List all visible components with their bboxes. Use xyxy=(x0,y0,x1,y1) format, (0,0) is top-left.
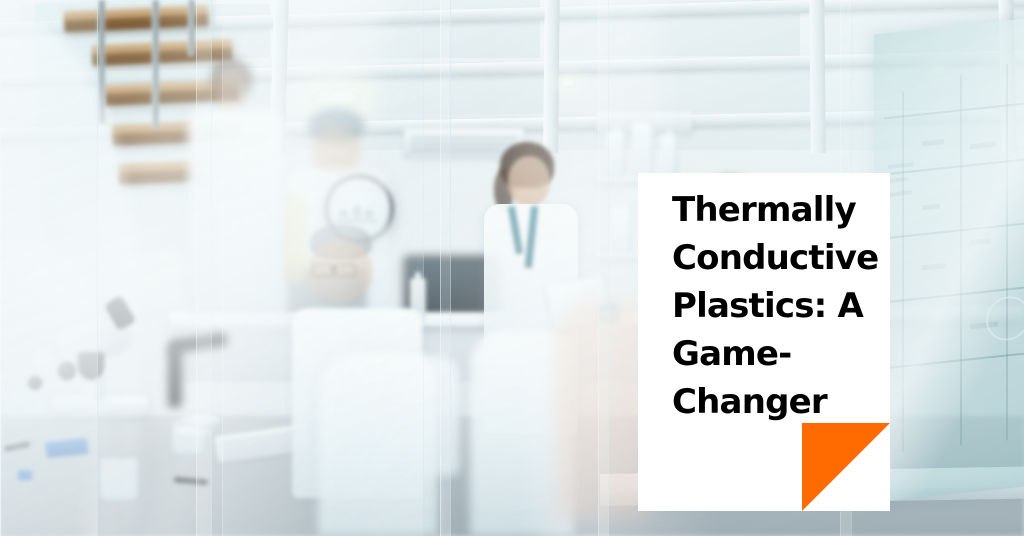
lab-instrument-arm xyxy=(168,346,182,408)
reagent-bottle xyxy=(660,134,678,176)
ceiling-light xyxy=(310,88,362,108)
reagent-bottle xyxy=(632,122,654,176)
stair-post xyxy=(188,0,195,56)
stair-post xyxy=(152,0,159,128)
page-title: Thermally Conductive Plastics: A Game- C… xyxy=(672,186,872,426)
ceiling-light xyxy=(560,78,576,88)
title-card: Thermally Conductive Plastics: A Game- C… xyxy=(638,173,890,511)
blog-header-banner: Thermally Conductive Plastics: A Game- C… xyxy=(0,0,1024,536)
reagent-bottle xyxy=(612,206,632,252)
reagent-bottle xyxy=(606,130,626,176)
petri-dish xyxy=(180,412,222,427)
orange-triangle-icon xyxy=(802,423,890,511)
glass-whiteboard xyxy=(874,18,1024,503)
